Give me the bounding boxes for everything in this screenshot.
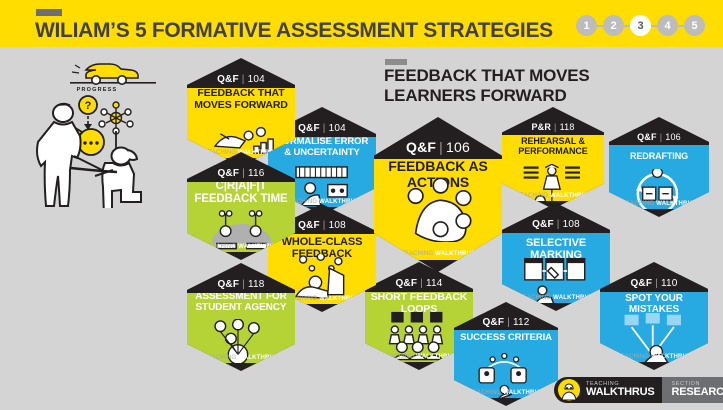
walkthrus-face-icon: [554, 377, 584, 403]
tile-code: P&R: [531, 122, 551, 132]
tile-code-badge: Q&F|106: [609, 129, 709, 145]
tile-brand-small: TEACHING: [382, 354, 416, 360]
tile-body: FEEDBACK AS ACTIONS: [374, 159, 502, 260]
tile-code: Q&F: [395, 278, 417, 289]
tile-brand-footer: TEACHING WALKTHRUS: [502, 295, 610, 301]
tile-page-number: 106: [665, 132, 681, 142]
tile-code-separator: |: [323, 220, 326, 231]
tile-code-badge: Q&F|106: [374, 135, 502, 159]
tile-page-number: 114: [426, 278, 443, 289]
tile-code-separator: |: [439, 139, 443, 155]
tile-code: Q&F: [637, 132, 657, 142]
tile-brand-large: WALKTHRUS: [656, 201, 696, 207]
pager-dot-1[interactable]: 1: [576, 15, 597, 36]
tile-code-separator: |: [323, 123, 326, 134]
grey-dash-icon: [36, 9, 62, 16]
strategy-tile-rehearsal-and-performance[interactable]: REHEARSAL & PERFORMANCE P&R|118TEACHING …: [502, 107, 604, 209]
tile-brand-large: WALKTHRUS: [435, 251, 475, 257]
tile-brand-large: WALKTHRUS: [319, 199, 359, 205]
tile-brand-footer: TEACHING WALKTHRUS: [187, 355, 295, 361]
tile-code: Q&F: [630, 278, 652, 289]
tile-code-badge: Q&F|114: [365, 275, 473, 292]
tile-brand-footer: TEACHING WALKTHRUS: [454, 390, 558, 396]
tile-code-separator: |: [242, 74, 245, 85]
tile-code-badge: P&R|118: [502, 119, 604, 135]
tile-brand-small: TEACHING: [617, 354, 651, 360]
tile-code-separator: |: [660, 132, 663, 142]
tile-code-badge: Q&F|110: [600, 275, 708, 292]
tile-body: ASSESSMENT FOR STUDENT AGENCY: [187, 293, 295, 363]
tile-page-number: 118: [560, 122, 575, 132]
progress-car-icon: [70, 64, 156, 84]
pager-dot-5[interactable]: 5: [684, 15, 705, 36]
tile-brand-footer: TEACHING WALKTHRUS: [600, 354, 708, 360]
tile-page-number: 106: [446, 139, 470, 155]
tile-code-separator: |: [507, 317, 510, 328]
tile-brand-footer: TEACHING WALKTHRUS: [609, 201, 709, 207]
tile-code: Q&F: [298, 123, 320, 134]
header-bar: WILIAM’S 5 FORMATIVE ASSESSMENT STRATEGI…: [0, 0, 723, 47]
section-dash-icon: [385, 59, 407, 65]
tile-body: SELECTIVE MARKING: [502, 233, 610, 303]
tile-code-badge: Q&F|104: [187, 71, 295, 88]
tile-brand-footer: TEACHING WALKTHRUS: [502, 193, 604, 199]
tile-code-separator: |: [242, 279, 245, 290]
tile-code: Q&F: [217, 74, 239, 85]
tile-brand-small: TEACHING: [401, 251, 435, 257]
tile-brand-large: WALKTHRUS: [503, 390, 543, 396]
page-title: WILIAM’S 5 FORMATIVE ASSESSMENT STRATEGI…: [35, 19, 553, 43]
tile-title: C|R|A|F|T FEEDBACK TIME: [191, 182, 291, 206]
tile-code: Q&F: [406, 139, 436, 155]
pager-dot-2[interactable]: 2: [603, 15, 624, 36]
brand-large: WALKTHRUS: [586, 387, 654, 399]
tile-code-badge: Q&F|108: [502, 216, 610, 233]
tile-page-number: 104: [329, 123, 346, 134]
tile-page-number: 104: [248, 74, 265, 85]
idea-burst-icon: [99, 102, 133, 134]
strategy-tile-selective-marking[interactable]: SELECTIVE MARKING Q&F|108TEACHING WALKTH…: [502, 203, 610, 311]
tile-page-number: 118: [248, 279, 265, 290]
tile-brand-footer: TEACHING WALKTHRUS: [374, 251, 502, 257]
tile-brand-small: TEACHING: [519, 295, 553, 301]
strategy-tile-feedback-as-actions[interactable]: FEEDBACK AS ACTIONS Q&F|106TEACHING WALK…: [374, 117, 502, 272]
tile-brand-large: WALKTHRUS: [550, 193, 590, 199]
tile-code: Q&F: [532, 219, 554, 230]
tile-body: SUCCESS CRITERIA: [454, 330, 558, 398]
pager-dot-4[interactable]: 4: [657, 15, 678, 36]
tile-page-number: 108: [563, 219, 580, 230]
page-stepper[interactable]: 12345: [576, 15, 705, 36]
brand-name: TEACHING WALKTHRUS: [584, 377, 662, 403]
tile-code-separator: |: [420, 278, 423, 289]
tile-brand-small: TEACHING: [516, 193, 550, 199]
tile-brand-small: TEACHING: [204, 244, 238, 250]
tile-code-separator: |: [655, 278, 658, 289]
strategy-tile-spot-your-mistakes[interactable]: SPOT YOUR MISTAKES Q&F|110TEACHING WALKT…: [600, 262, 708, 370]
tile-code-separator: |: [554, 122, 557, 132]
tile-page-number: 110: [661, 278, 678, 289]
section-heading: FEEDBACK THAT MOVES LEARNERS FORWARD: [384, 66, 674, 106]
section-large: RESEARCH: [671, 387, 723, 399]
tile-brand-large: WALKTHRUS: [238, 355, 278, 361]
tile-code-separator: |: [242, 168, 245, 179]
tile-brand-small: TEACHING: [204, 150, 238, 156]
student-figure: [95, 148, 141, 209]
svg-text:?: ?: [85, 100, 92, 112]
tile-title: REDRAFTING: [613, 151, 705, 161]
tile-title: REHEARSAL & PERFORMANCE: [506, 136, 600, 156]
tile-page-number: 112: [513, 317, 530, 328]
tile-brand-small: TEACHING: [469, 390, 503, 396]
tile-page-number: 116: [248, 168, 265, 179]
footer-logo: TEACHING WALKTHRUS SECTION RESEARCH: [554, 377, 723, 403]
tile-brand-large: WALKTHRUS: [319, 296, 359, 302]
tile-title: ASSESSMENT FOR STUDENT AGENCY: [191, 293, 291, 313]
tile-code: Q&F: [482, 317, 504, 328]
tile-brand-small: TEACHING: [204, 355, 238, 361]
tile-code-separator: |: [557, 219, 560, 230]
tile-brand-large: WALKTHRUS: [651, 354, 691, 360]
section-badge: SECTION RESEARCH: [662, 377, 723, 403]
pager-dot-3[interactable]: 3: [630, 15, 651, 36]
tile-body: REDRAFTING: [609, 145, 709, 209]
tile-title: FEEDBACK THAT MOVES FORWARD: [191, 88, 291, 112]
tile-code: Q&F: [298, 220, 320, 231]
tile-brand-large: WALKTHRUS: [416, 354, 456, 360]
tile-body: SPOT YOUR MISTAKES: [600, 292, 708, 362]
tile-code: Q&F: [217, 279, 239, 290]
strategy-tile-redrafting[interactable]: REDRAFTING Q&F|106TEACHING WALKTHRUS: [609, 117, 709, 217]
tile-brand-large: WALKTHRUS: [553, 295, 593, 301]
tile-brand-small: TEACHING: [622, 201, 656, 207]
progress-label: PROGRESS: [77, 87, 118, 93]
teacher-and-student-illustration: PROGRESS ?: [14, 58, 186, 208]
tile-body: REHEARSAL & PERFORMANCE: [502, 135, 604, 201]
tile-page-number: 108: [329, 220, 346, 231]
tile-code: Q&F: [217, 168, 239, 179]
tile-title: SUCCESS CRITERIA: [458, 333, 554, 344]
person-with-action-bubbles-icon: [374, 177, 502, 242]
